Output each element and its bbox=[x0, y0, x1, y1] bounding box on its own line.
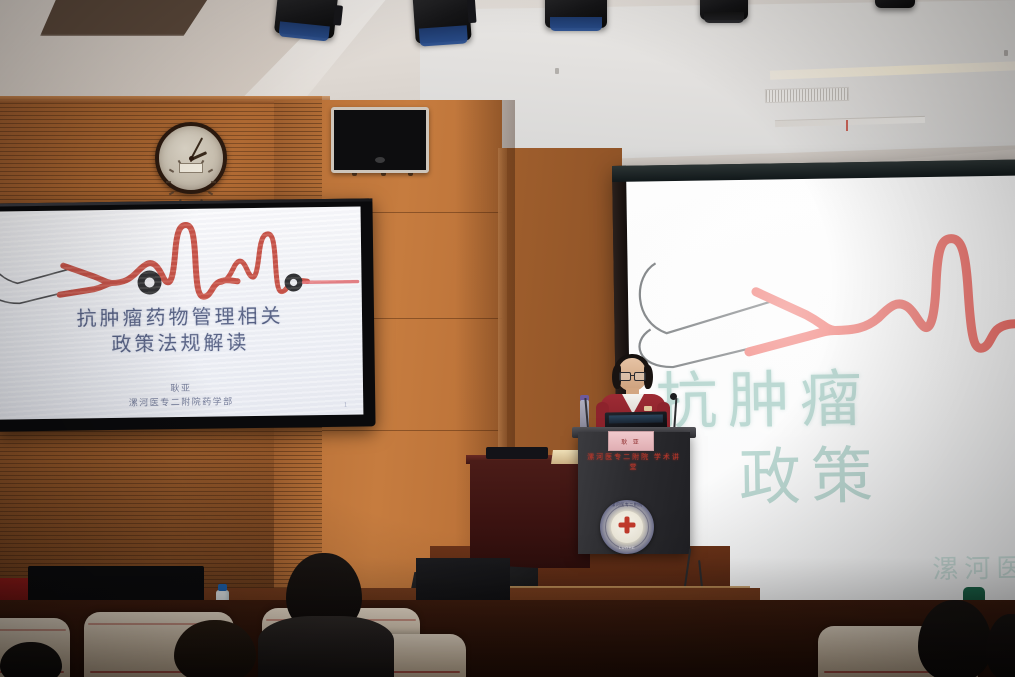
emblem-top-text: 漯河医专二附院 bbox=[600, 502, 654, 508]
wall-tv-display: 抗肿瘤药物管理相关 政策法规解读 耿亚 漯河医专二附院药学部 1 bbox=[0, 198, 376, 431]
stage-spotlight-icon bbox=[274, 0, 338, 39]
emblem-bottom-text: LUOHE bbox=[600, 545, 654, 550]
laptop-screen bbox=[609, 415, 663, 424]
table-laptop bbox=[486, 447, 548, 459]
slide-title-line2: 政策法规解读 bbox=[0, 329, 363, 360]
clock-center bbox=[189, 156, 194, 161]
red-cross-icon bbox=[619, 516, 636, 533]
ceiling-fixture-screw bbox=[555, 68, 559, 74]
air-vent-grille-icon bbox=[765, 87, 849, 103]
slide-presenter-block: 耿亚 漯河医专二附院药学部 bbox=[0, 379, 363, 413]
conference-hall-photo: 抗肿瘤 政策 漯河医 漯河医 抗肿瘤药物管理相关 bbox=[0, 0, 1015, 677]
tv-screen: 抗肿瘤药物管理相关 政策法规解读 耿亚 漯河医专二附院药学部 1 bbox=[0, 207, 363, 420]
stage-spotlight-icon bbox=[545, 0, 607, 28]
projected-title-line2: 政策 bbox=[738, 440, 883, 518]
slide-title: 抗肿瘤药物管理相关 政策法规解读 bbox=[0, 303, 363, 361]
eyeglasses-icon bbox=[619, 372, 646, 379]
presenter-badge bbox=[644, 406, 652, 411]
ceiling-fixture-screw bbox=[1004, 50, 1008, 56]
wall-clock-icon bbox=[155, 122, 227, 194]
hospital-emblem-icon: 漯河医专二附院 LUOHE bbox=[600, 500, 654, 554]
wall-speaker-icon bbox=[331, 107, 429, 173]
stage-spotlight-icon bbox=[700, 0, 748, 20]
podium-name-card: 耿 亚 bbox=[608, 431, 654, 451]
podium-front-text: 漯河医专二附院 学术讲堂 bbox=[584, 452, 684, 472]
speaker-driver bbox=[375, 157, 385, 163]
slide-page-number: 1 bbox=[344, 401, 348, 409]
projected-subtitle: 漯河医 bbox=[932, 548, 1015, 587]
stage-spotlight-icon bbox=[875, 0, 915, 8]
bottle-cap bbox=[218, 584, 227, 591]
clock-date-window bbox=[179, 163, 203, 173]
audience-shoulders bbox=[258, 616, 394, 677]
laser-pointer-dot bbox=[846, 120, 848, 131]
stage-spotlight-icon bbox=[412, 0, 471, 44]
side-table bbox=[470, 460, 590, 568]
